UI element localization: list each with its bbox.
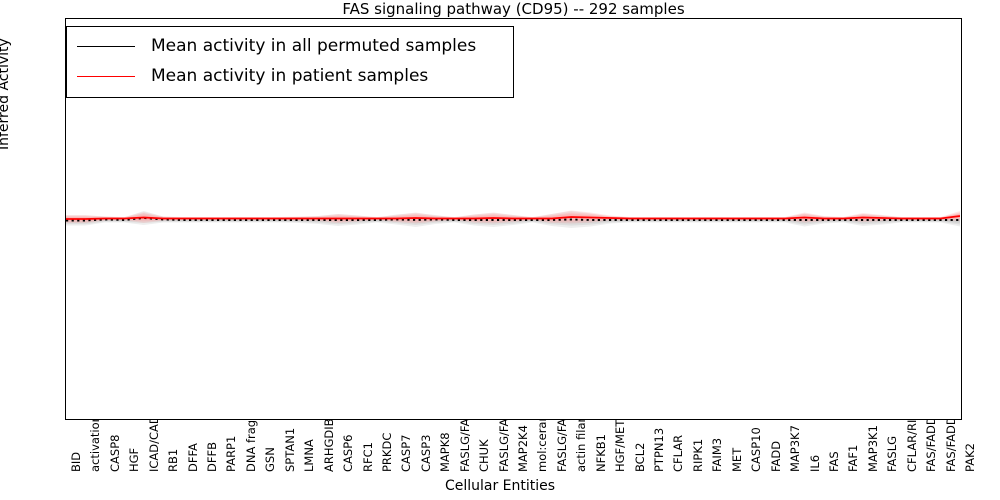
x-tick-label: FASLG <box>887 436 899 472</box>
x-tick-label: DFFB <box>207 442 219 472</box>
x-tick-label: PRKDC <box>382 433 394 472</box>
y-axis-label: Inferred Activity <box>0 0 12 150</box>
x-tick-label: PTPN13 <box>654 428 666 472</box>
x-tick-label: NFKB1 <box>596 434 608 472</box>
x-tick-label: BID <box>71 452 83 472</box>
x-tick-label: PARP1 <box>226 436 238 472</box>
x-tick-label: MAP3K1 <box>868 425 880 472</box>
chart-legend: Mean activity in all permuted samples Me… <box>66 26 514 98</box>
x-tick-label: ARHGDIB <box>324 418 336 472</box>
x-tick-label: CASP8 <box>110 435 122 472</box>
x-tick-label: CHUK <box>479 439 491 472</box>
x-tick-label: PAK2 <box>965 443 977 472</box>
x-axis-label: Cellular Entities <box>0 478 1000 494</box>
x-tick-label: CASP7 <box>401 435 413 472</box>
x-tick-label: SPTAN1 <box>285 428 297 472</box>
x-tick-label: FAIM3 <box>712 438 724 472</box>
legend-label-permuted: Mean activity in all permuted samples <box>151 36 476 56</box>
x-tick-label: BCL2 <box>635 443 647 472</box>
x-tick-label: MAP2K4 <box>518 425 530 472</box>
x-tick-label: MET <box>732 448 744 472</box>
x-tick-label: MAPK8 <box>440 432 452 472</box>
x-tick-label: CASP3 <box>421 435 433 472</box>
legend-label-patient: Mean activity in patient samples <box>151 66 428 86</box>
legend-swatch-patient <box>77 76 135 77</box>
x-tick-label: MAP3K7 <box>790 425 802 472</box>
x-tick-label: LMNA <box>304 439 316 472</box>
x-tick-label: FAS/FADD <box>926 416 938 472</box>
x-tick-label: ICAD/CAD <box>149 415 161 472</box>
legend-item: Mean activity in patient samples <box>77 61 503 91</box>
x-tick-label: CFLAR <box>673 435 685 472</box>
x-tick-label: CASP10 <box>751 427 763 472</box>
x-tick-label: CASP6 <box>343 435 355 472</box>
legend-item: Mean activity in all permuted samples <box>77 31 503 61</box>
legend-swatch-permuted <box>77 46 135 47</box>
x-tick-label: HGF/MET <box>615 420 627 472</box>
x-tick-label: HGF <box>129 448 141 472</box>
x-tick-label: RB1 <box>168 449 180 472</box>
x-tick-label: FAS <box>829 451 841 472</box>
chart-figure: FAS signaling pathway (CD95) -- 292 samp… <box>0 0 1000 500</box>
chart-title: FAS signaling pathway (CD95) -- 292 samp… <box>65 0 962 18</box>
x-tick-label: FAF1 <box>848 445 860 472</box>
x-tick-label: FADD <box>771 441 783 472</box>
x-tick-label: DFFA <box>188 443 200 472</box>
x-tick-label: GSN <box>265 447 277 472</box>
x-tick-label: RIPK1 <box>693 439 705 472</box>
x-tick-label: RFC1 <box>363 442 375 472</box>
x-tick-label: IL6 <box>810 455 822 472</box>
